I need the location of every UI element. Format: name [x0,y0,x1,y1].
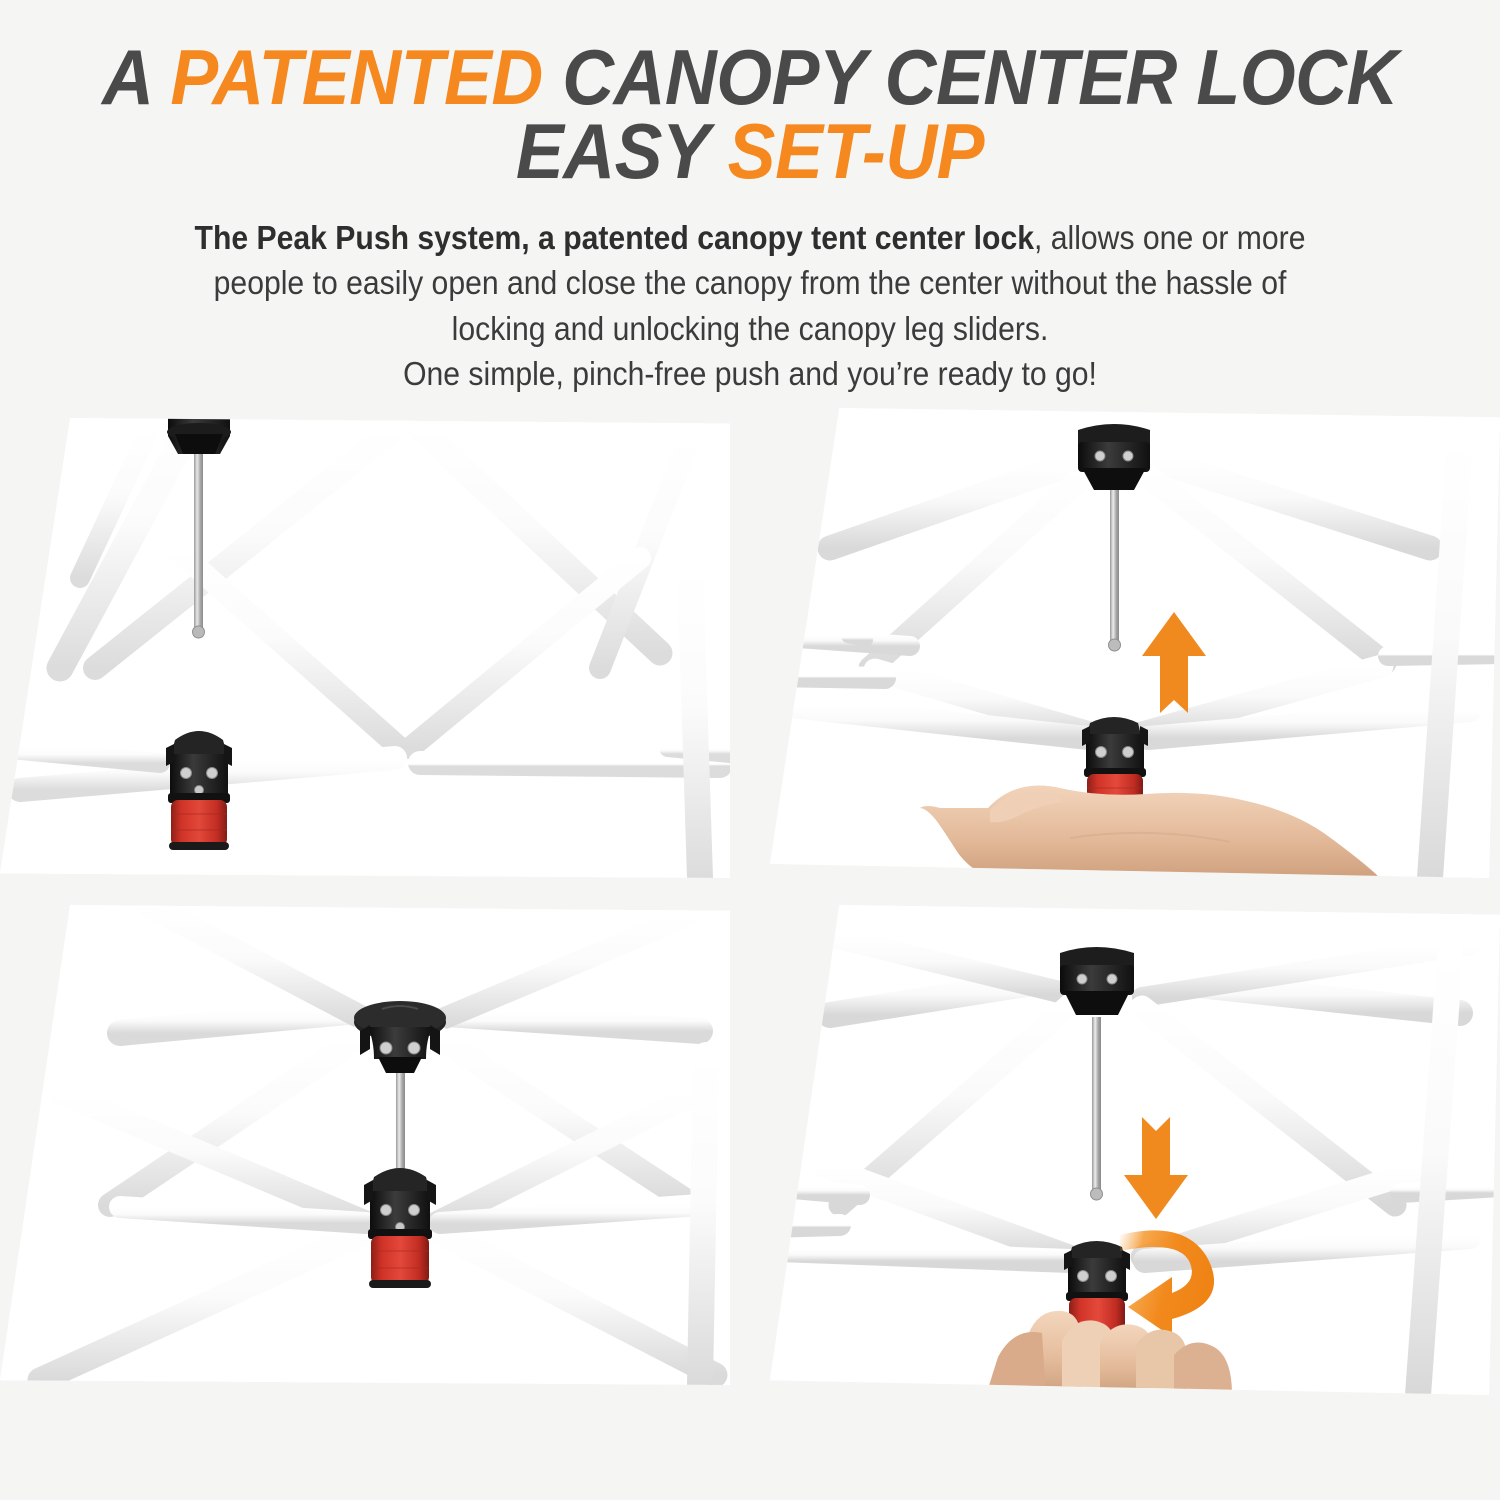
description-line-1: The Peak Push system, a patented canopy … [75,216,1425,262]
description-bold-lead: The Peak Push system, a patented canopy … [195,220,1034,257]
page-title: A PATENTED CANOPY CENTER LOCK EASY SET-U… [60,42,1440,188]
title-line-2: EASY SET-UP [60,116,1440,188]
description-line-4: One simple, pinch-free push and you’re r… [75,352,1425,398]
product-photo-grid: Canopy frame center lock open - peak hub… [0,400,1500,1500]
header: A PATENTED CANOPY CENTER LOCK EASY SET-U… [0,0,1500,398]
product-photo-panel-4: Two hands twisting and pulling the red c… [770,905,1500,1395]
title-text-c: EASY [516,107,728,195]
steel-push-rod-4 [1091,1017,1103,1200]
product-photo-panel-3: Canopy fully locked - peak hub and red c… [0,905,730,1385]
product-photo-panel-1: Canopy frame center lock open - peak hub… [0,418,730,878]
peak-hub-top-2 [1078,424,1150,490]
center-lock-hub-1 [166,731,232,850]
description-line-1-rest: , allows one or more [1034,220,1305,257]
product-photo-panel-2: Hand pushing red center lock hub upward,… [770,408,1500,878]
description-line-3: locking and unlocking the canopy leg sli… [75,307,1425,353]
center-lock-hub-3 [364,1168,436,1288]
steel-push-rod-2 [1109,488,1121,651]
title-highlight-setup: SET-UP [728,107,984,195]
title-highlight-patented: PATENTED [170,33,542,121]
steel-push-rod-3 [396,1060,405,1175]
page-description: The Peak Push system, a patented canopy … [75,216,1425,398]
panel-1-alt: Canopy frame center lock open - peak hub… [0,418,1,419]
peak-hub-top-1 [167,418,231,454]
title-text-a: A [102,33,170,121]
peak-hub-top-4 [1060,947,1134,1015]
description-line-2: people to easily open and close the cano… [75,261,1425,307]
steel-push-rod-1 [193,440,205,638]
panel-4-alt: Two hands twisting and pulling the red c… [770,905,771,906]
panel-3-alt: Canopy fully locked - peak hub and red c… [0,905,1,906]
panel-2-alt: Hand pushing red center lock hub upward,… [770,408,771,409]
